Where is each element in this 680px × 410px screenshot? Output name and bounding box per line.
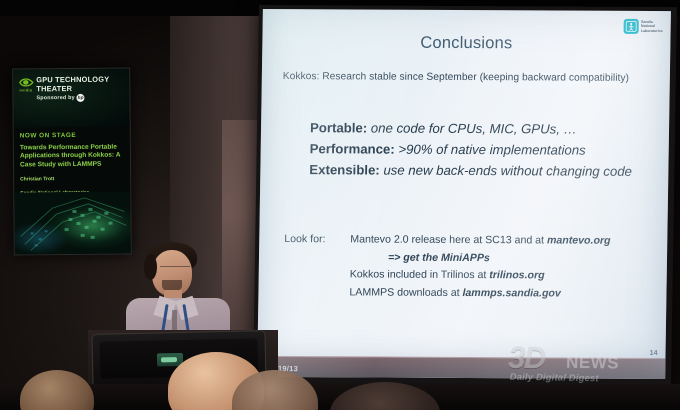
signage-mesh-pattern <box>14 191 131 254</box>
sandia-logo-line3: Laboratories <box>641 29 663 34</box>
slide-title: Conclusions <box>262 33 670 54</box>
bullet-key: Performance: <box>310 141 395 156</box>
signage-now-on-stage: NOW ON STAGE <box>20 132 124 140</box>
screen-vignette <box>257 9 671 379</box>
sandia-figure-icon <box>625 21 636 32</box>
nvidia-wordmark: nvidia <box>18 88 33 92</box>
bullet-row: Extensible: use new back-ends without ch… <box>309 159 632 182</box>
bullet-row: Performance: >90% of native implementati… <box>310 138 633 161</box>
look-for-line: Kokkos included in Trilinos at trilinos.… <box>350 266 644 285</box>
nvidia-eye-icon <box>18 77 33 87</box>
bullet-key: Portable: <box>310 120 367 135</box>
look-for-url: lammps.sandia.gov <box>462 286 561 299</box>
bullet-value: >90% of native implementations <box>398 142 586 158</box>
signage-header: nvidia GPU TECHNOLOGY THEATER Sponsored … <box>13 68 130 127</box>
look-for-label: Look for: <box>284 231 350 249</box>
slide-subtitle: Kokkos: Research stable since September … <box>283 71 629 84</box>
signage-body: NOW ON STAGE Towards Performance Portabl… <box>14 126 131 200</box>
look-for-line: Mantevo 2.0 release here at SC13 and at … <box>350 231 644 250</box>
presenter-glasses <box>160 266 190 274</box>
signage-decorative-graphic <box>14 191 131 254</box>
look-for-lines: Mantevo 2.0 release here at SC13 and at … <box>349 231 644 303</box>
slide-bullet-list: Portable: one code for CPUs, MIC, GPUs, … <box>309 117 633 182</box>
look-for-text: Mantevo 2.0 release here at SC13 and at <box>350 233 547 246</box>
look-for-text: Kokkos included in Trilinos at <box>350 268 490 281</box>
bullet-row: Portable: one code for CPUs, MIC, GPUs, … <box>310 117 633 140</box>
look-for-url: trilinos.org <box>489 269 545 281</box>
signage-speaker-name: Christian Trott <box>20 176 124 183</box>
presentation-slide: Sandia National Laboratories Conclusions… <box>257 9 671 379</box>
signage-sponsor: Sponsored by hp <box>36 94 124 103</box>
bullet-value: use new back-ends without changing code <box>383 163 632 179</box>
bullet-value: one code for CPUs, MIC, GPUs, … <box>371 121 577 137</box>
signage-sponsor-label: Sponsored by <box>36 95 74 101</box>
conference-room-photo: nvidia GPU TECHNOLOGY THEATER Sponsored … <box>0 0 680 410</box>
slide-page-number: 14 <box>649 348 657 357</box>
hp-logo-icon: hp <box>77 94 85 102</box>
sandia-logo-text: Sandia National Laboratories <box>641 20 663 33</box>
presenter-hair-side <box>144 254 157 280</box>
look-for-url: mantevo.org <box>547 234 611 246</box>
look-for-text: LAMMPS downloads at <box>349 286 462 299</box>
projection-screen: Sandia National Laboratories Conclusions… <box>253 5 677 385</box>
slide-footer-bar: 11/19/13 <box>257 357 665 379</box>
sandia-logo: Sandia National Laboratories <box>623 19 663 34</box>
signage-theater-line2: THEATER <box>36 84 124 94</box>
session-signage-display: nvidia GPU TECHNOLOGY THEATER Sponsored … <box>12 67 132 255</box>
signage-talk-title: Towards Performance Portable Application… <box>20 144 124 170</box>
sandia-mark-icon <box>623 19 638 34</box>
slide-look-for-block: Look for: Mantevo 2.0 release here at SC… <box>283 231 644 303</box>
look-for-line: LAMMPS downloads at lammps.sandia.gov <box>349 284 643 303</box>
screen-glare <box>257 9 671 379</box>
bullet-key: Extensible: <box>309 162 380 177</box>
nvidia-logo: nvidia <box>18 75 33 92</box>
look-for-line: => get the MiniAPPs <box>350 249 644 268</box>
look-for-callout: => get the MiniAPPs <box>388 251 490 264</box>
